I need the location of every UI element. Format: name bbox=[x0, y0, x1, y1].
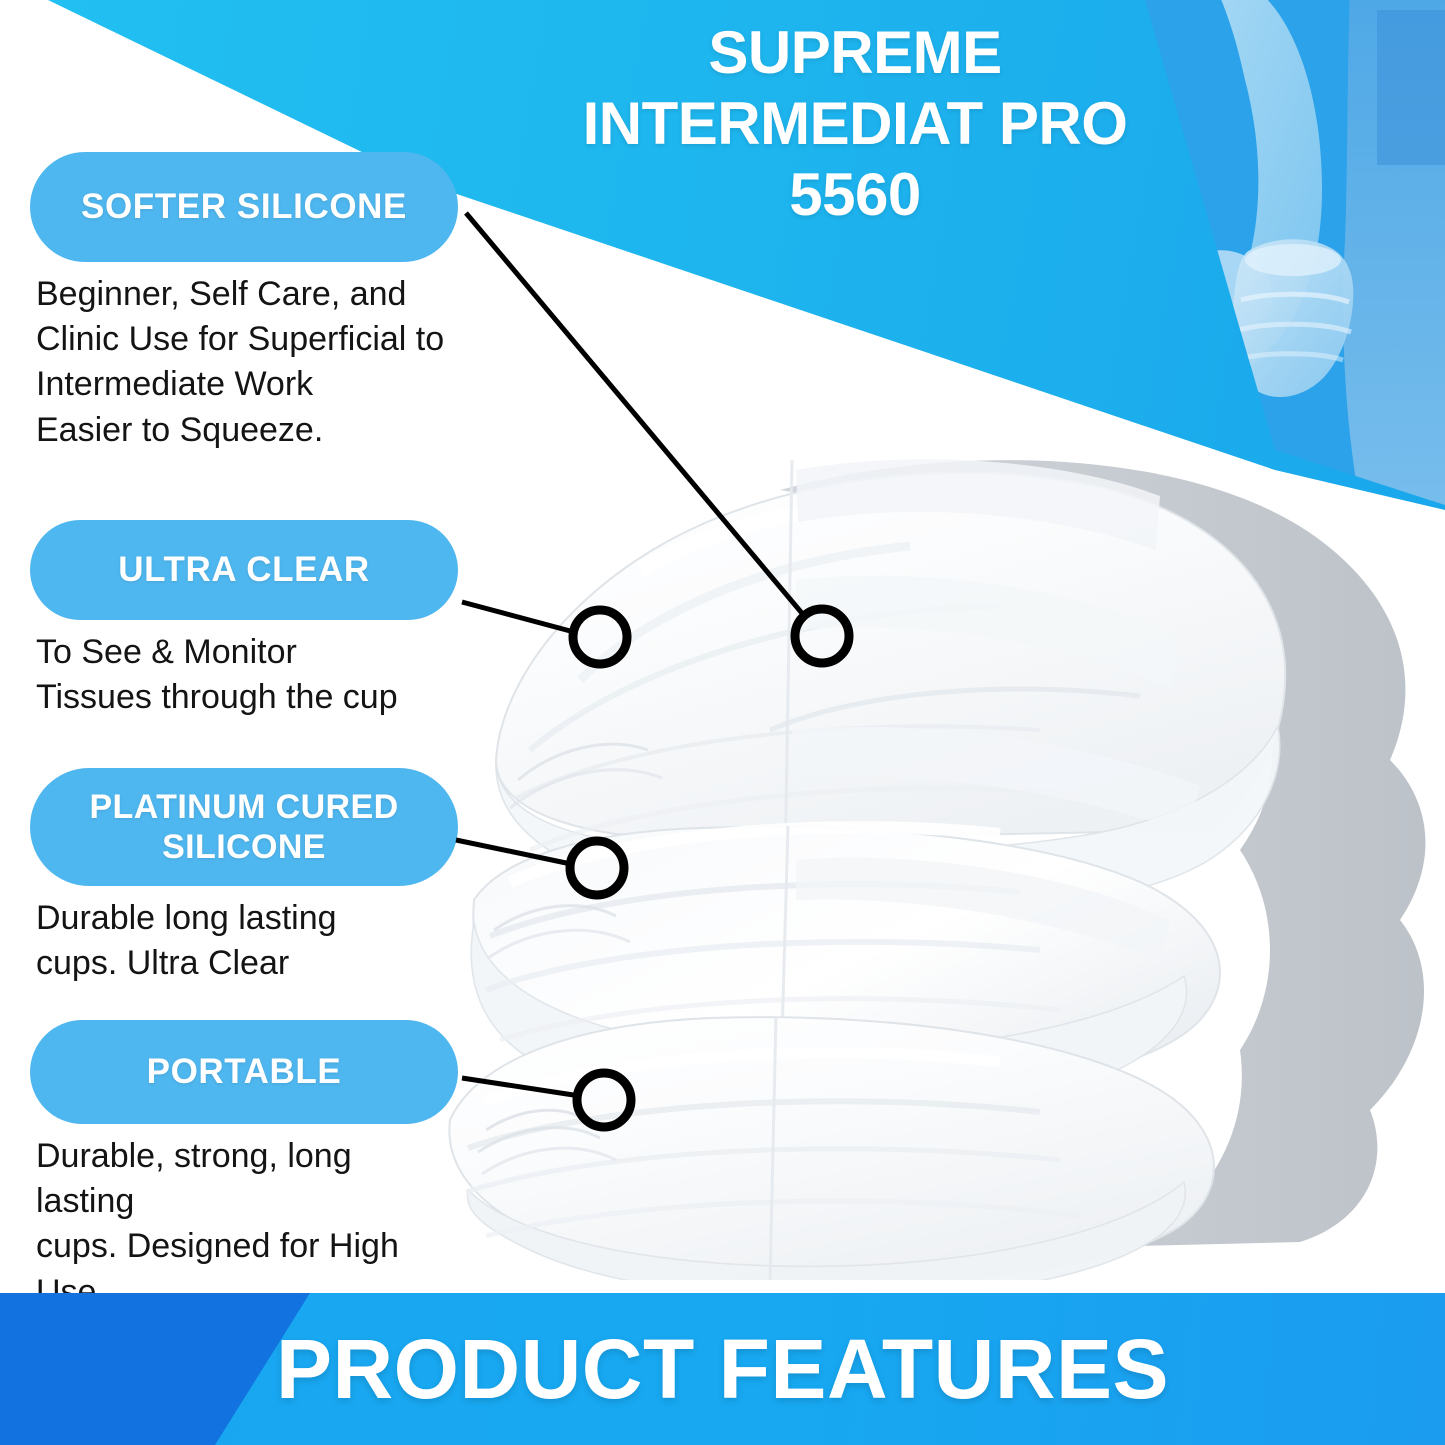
title-line-3: 5560 bbox=[505, 160, 1205, 231]
feature-label-2: PLATINUM CURED SILICONE bbox=[44, 787, 444, 867]
feature-ultra-clear[interactable]: ULTRA CLEAR To See & Monitor Tissues thr… bbox=[30, 520, 458, 720]
feature-pill-3[interactable]: PORTABLE bbox=[30, 1020, 458, 1124]
feature-description-0: Beginner, Self Care, and Clinic Use for … bbox=[30, 272, 458, 453]
feature-label-3: PORTABLE bbox=[147, 1052, 342, 1092]
feature-label-1: ULTRA CLEAR bbox=[118, 550, 370, 590]
feature-label-0: SOFTER SILICONE bbox=[81, 187, 407, 227]
title-line-1: SUPREME bbox=[505, 18, 1205, 89]
infographic-page: SUPREME INTERMEDIAT PRO 5560 bbox=[0, 0, 1445, 1445]
feature-softer-silicone[interactable]: SOFTER SILICONE Beginner, Self Care, and… bbox=[30, 152, 458, 453]
feature-platinum-cured-silicone[interactable]: PLATINUM CURED SILICONE Durable long las… bbox=[30, 768, 458, 986]
feature-pill-1[interactable]: ULTRA CLEAR bbox=[30, 520, 458, 620]
feature-portable[interactable]: PORTABLE Durable, strong, long lasting c… bbox=[30, 1020, 458, 1315]
product-title: SUPREME INTERMEDIAT PRO 5560 bbox=[505, 18, 1205, 230]
feature-description-2: Durable long lasting cups. Ultra Clear bbox=[30, 896, 458, 986]
feature-description-1: To See & Monitor Tissues through the cup bbox=[30, 630, 458, 720]
feature-description-3: Durable, strong, long lasting cups. Desi… bbox=[30, 1134, 458, 1315]
feature-pill-2[interactable]: PLATINUM CURED SILICONE bbox=[30, 768, 458, 886]
cupping-cups-illustration bbox=[440, 430, 1445, 1280]
bottom-banner-title: PRODUCT FEATURES bbox=[0, 1293, 1445, 1445]
bottom-banner: PRODUCT FEATURES bbox=[0, 1293, 1445, 1445]
title-line-2: INTERMEDIAT PRO bbox=[505, 89, 1205, 160]
feature-pill-0[interactable]: SOFTER SILICONE bbox=[30, 152, 458, 262]
product-image bbox=[440, 430, 1445, 1280]
